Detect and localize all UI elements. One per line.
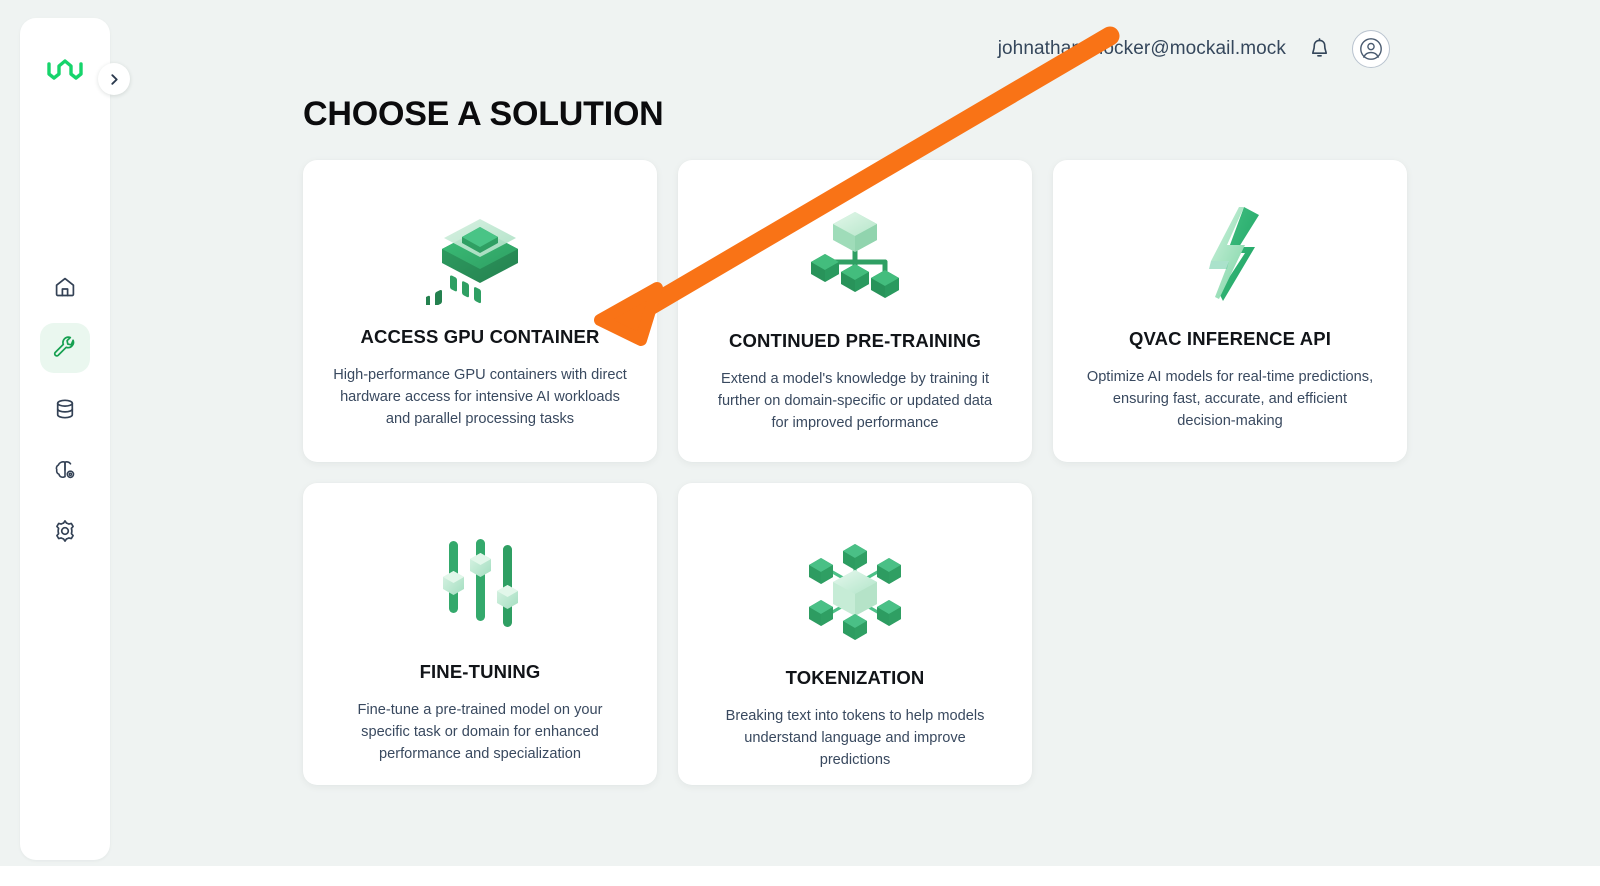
wrench-icon [53,336,77,360]
home-icon [53,275,77,299]
sidebar-item-home[interactable] [40,262,90,312]
card-title: TOKENIZATION [786,667,925,689]
sidebar [20,18,110,860]
bell-icon [1309,38,1330,60]
solution-card-qvac-inference-api[interactable]: QVAC INFERENCE API Optimize AI models fo… [1053,160,1407,462]
user-avatar-button[interactable] [1352,30,1390,68]
solutions-grid: ACCESS GPU CONTAINER High-performance GP… [303,160,1408,785]
sidebar-item-datasets[interactable] [40,384,90,434]
sidebar-expand-button[interactable] [98,63,130,95]
sliders-icon [435,515,525,655]
infinity-logo[interactable] [44,56,86,82]
solution-card-tokenization[interactable]: TOKENIZATION Breaking text into tokens t… [678,483,1032,785]
solution-card-fine-tuning[interactable]: FINE-TUNING Fine-tune a pre-trained mode… [303,483,657,785]
user-email: johnathan.mocker@mockail.mock [998,38,1286,60]
brain-gear-icon [53,458,77,482]
sidebar-item-solutions[interactable] [40,323,90,373]
card-description: Extend a model's knowledge by training i… [708,368,1002,435]
top-header: johnathan.mocker@mockail.mock [998,30,1390,68]
database-icon [53,397,77,421]
solution-card-access-gpu-container[interactable]: ACCESS GPU CONTAINER High-performance GP… [303,160,657,462]
sidebar-item-models[interactable] [40,445,90,495]
solution-card-continued-pre-training[interactable]: CONTINUED PRE-TRAINING Extend a model's … [678,160,1032,462]
card-description: Fine-tune a pre-trained model on your sp… [333,699,627,766]
card-description: Optimize AI models for real-time predict… [1083,366,1377,433]
page-title: CHOOSE A SOLUTION [303,95,664,134]
sidebar-nav [20,262,110,556]
user-avatar-icon [1359,37,1383,61]
card-title: FINE-TUNING [420,661,541,683]
gear-icon [53,519,77,543]
card-description: High-performance GPU containers with dir… [333,364,627,431]
app-root: johnathan.mocker@mockail.mock CHOOSE A S… [0,0,1600,886]
gpu-chip-icon [426,186,534,320]
card-description: Breaking text into tokens to help models… [708,705,1002,772]
notifications-button[interactable] [1304,34,1334,64]
sidebar-item-settings[interactable] [40,506,90,556]
card-title: CONTINUED PRE-TRAINING [729,330,981,352]
node-hierarchy-icon [803,192,907,324]
cube-network-icon [803,523,907,661]
card-title: ACCESS GPU CONTAINER [360,326,599,348]
card-title: QVAC INFERENCE API [1129,328,1331,350]
lightning-bolt-icon [1189,188,1271,322]
